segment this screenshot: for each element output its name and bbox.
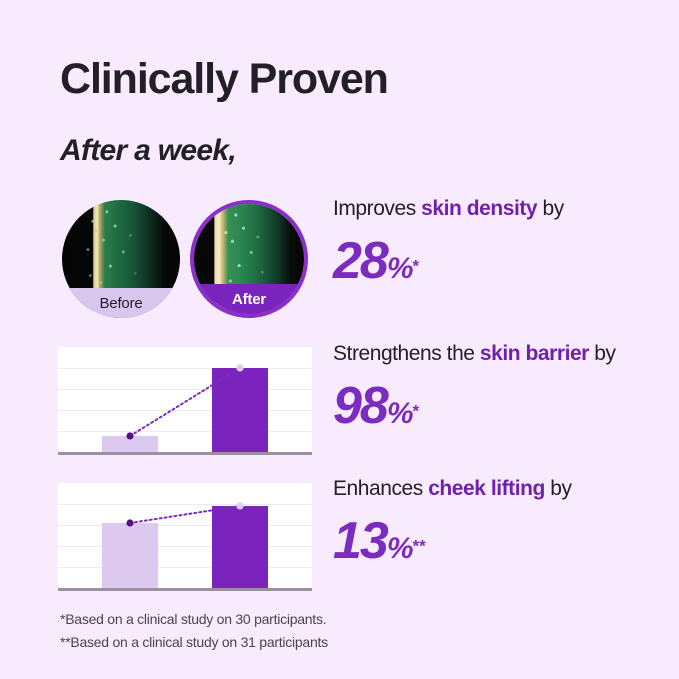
percent-symbol: % [387,397,413,430]
stat-value-group: 13%** [333,515,572,567]
stat-skin-barrier: Strengthens the skin barrier by 98%* [333,343,616,432]
percent-symbol: % [387,532,413,565]
after-label: After [194,284,304,314]
stat-suffix: by [545,477,572,500]
stat-description: Improves skin density by [333,198,564,219]
before-after-comparison: Before After [62,200,312,320]
grid-line [58,546,312,547]
page-title: Clinically Proven [60,58,388,101]
bar-before [102,523,158,588]
grid-line [58,389,312,390]
footnote-marker: * [413,257,420,276]
stat-highlight: cheek lifting [428,477,545,500]
stat-suffix: by [589,342,616,365]
before-image-circle: Before [62,200,180,318]
bar-chart-cheek-lifting [58,483,312,588]
footnote-line-2: **Based on a clinical study on 31 partic… [60,631,328,654]
bar-after [212,368,268,452]
stat-prefix: Strengthens the [333,342,480,365]
before-label: Before [62,288,180,318]
stat-value: 28 [333,232,387,290]
footnote-line-1: *Based on a clinical study on 30 partici… [60,608,328,631]
grid-line [58,525,312,526]
trend-line-svg [58,347,312,452]
trend-line-svg [58,483,312,588]
stat-suffix: by [537,197,564,220]
stat-value-group: 28%* [333,235,564,287]
stat-description: Strengthens the skin barrier by [333,343,616,364]
infographic-page: Clinically Proven After a week, Before A… [0,0,679,679]
bar-chart-skin-barrier [58,347,312,452]
footnote-marker: ** [413,537,426,556]
bar-after [212,506,268,588]
grid-line [58,368,312,369]
chart-baseline [58,588,312,591]
page-subtitle: After a week, [60,136,236,166]
chart-baseline [58,452,312,455]
after-image-circle: After [190,200,308,318]
stat-skin-density: Improves skin density by 28%* [333,198,564,287]
grid-line [58,410,312,411]
stat-prefix: Enhances [333,477,428,500]
stat-cheek-lifting: Enhances cheek lifting by 13%** [333,478,572,567]
bar-before [102,436,158,452]
stat-highlight: skin barrier [480,342,589,365]
footnote-marker: * [413,402,420,421]
stat-description: Enhances cheek lifting by [333,478,572,499]
stat-value-group: 98%* [333,380,616,432]
percent-symbol: % [387,252,413,285]
stat-highlight: skin density [421,197,537,220]
stat-prefix: Improves [333,197,421,220]
stat-value: 13 [333,512,387,570]
grid-line [58,431,312,432]
grid-line [58,567,312,568]
footnotes: *Based on a clinical study on 30 partici… [60,608,328,653]
grid-line [58,504,312,505]
stat-value: 98 [333,377,387,435]
